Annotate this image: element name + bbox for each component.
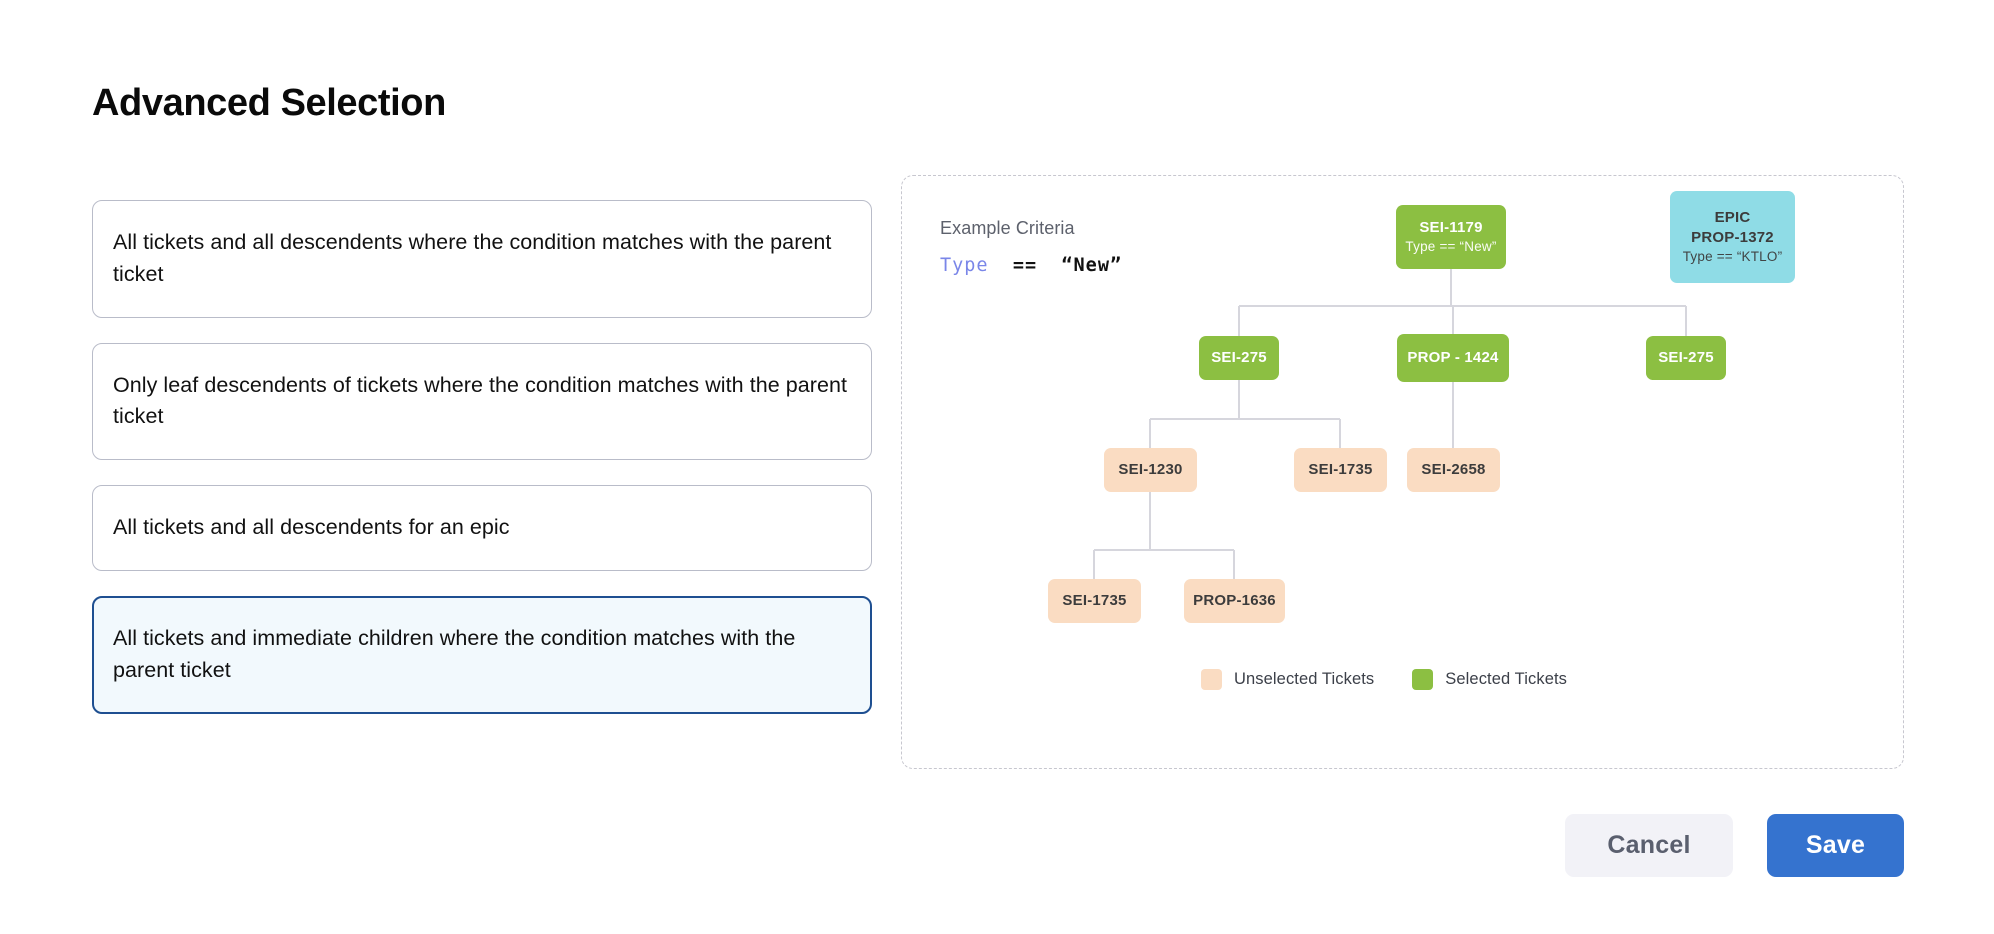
dialog-footer: Cancel Save [1565, 814, 1904, 877]
node-id: SEI-1735 [1062, 591, 1126, 611]
criteria-expression: Type == “New” [940, 255, 1122, 276]
option-card-all-descendents-condition[interactable]: All tickets and all descendents where th… [92, 200, 872, 318]
option-card-all-descendents-epic[interactable]: All tickets and all descendents for an e… [92, 485, 872, 571]
diagram-legend: Unselected Tickets Selected Tickets [1201, 669, 1567, 690]
node-id: SEI-2658 [1421, 460, 1485, 480]
tree-node-sei-1735-b[interactable]: SEI-1735 [1048, 579, 1141, 623]
tree-node-prop-1636[interactable]: PROP-1636 [1184, 579, 1285, 623]
selection-option-list: All tickets and all descendents where th… [92, 200, 872, 739]
option-card-leaf-descendents-condition[interactable]: Only leaf descendents of tickets where t… [92, 343, 872, 461]
advanced-selection-screen: Advanced Selection All tickets and all d… [0, 0, 1994, 934]
tree-node-epic-prop-1372[interactable]: EPIC PROP-1372 Type == “KTLO” [1670, 191, 1795, 283]
option-label: Only leaf descendents of tickets where t… [113, 370, 849, 434]
legend-swatch-unselected-icon [1201, 669, 1222, 690]
tree-node-sei-1735-a[interactable]: SEI-1735 [1294, 448, 1387, 492]
criteria-keyword: Type [940, 255, 989, 276]
save-button[interactable]: Save [1767, 814, 1904, 877]
tree-node-sei-2658[interactable]: SEI-2658 [1407, 448, 1500, 492]
option-label: All tickets and immediate children where… [113, 623, 849, 687]
option-label: All tickets and all descendents for an e… [113, 512, 849, 544]
node-id: PROP-1636 [1193, 591, 1276, 611]
legend-item-selected: Selected Tickets [1412, 669, 1567, 690]
node-kind: EPIC [1715, 208, 1751, 228]
legend-label: Unselected Tickets [1234, 670, 1374, 689]
node-id: PROP - 1424 [1407, 348, 1498, 368]
node-id: SEI-1179 [1419, 218, 1482, 238]
legend-label: Selected Tickets [1445, 670, 1567, 689]
node-condition: Type == “KTLO” [1683, 248, 1783, 266]
node-condition: Type == “New” [1405, 238, 1496, 256]
tree-node-sei-275-b[interactable]: SEI-275 [1646, 336, 1726, 380]
node-id: PROP-1372 [1691, 228, 1774, 248]
example-diagram-panel: Example Criteria Type == “New” [901, 175, 1904, 769]
cancel-button[interactable]: Cancel [1565, 814, 1733, 877]
node-id: SEI-1735 [1308, 460, 1372, 480]
criteria-operator: == [1013, 255, 1037, 276]
criteria-value: “New” [1061, 255, 1122, 276]
tree-node-prop-1424[interactable]: PROP - 1424 [1397, 334, 1509, 382]
legend-item-unselected: Unselected Tickets [1201, 669, 1374, 690]
criteria-title: Example Criteria [940, 218, 1075, 239]
tree-node-sei-1230[interactable]: SEI-1230 [1104, 448, 1197, 492]
tree-node-sei-1179[interactable]: SEI-1179 Type == “New” [1396, 205, 1506, 269]
legend-swatch-selected-icon [1412, 669, 1433, 690]
tree-node-sei-275-a[interactable]: SEI-275 [1199, 336, 1279, 380]
option-card-immediate-children-condition[interactable]: All tickets and immediate children where… [92, 596, 872, 714]
page-title: Advanced Selection [92, 82, 446, 125]
node-id: SEI-275 [1658, 348, 1714, 368]
node-id: SEI-275 [1211, 348, 1267, 368]
option-label: All tickets and all descendents where th… [113, 227, 849, 291]
node-id: SEI-1230 [1118, 460, 1182, 480]
